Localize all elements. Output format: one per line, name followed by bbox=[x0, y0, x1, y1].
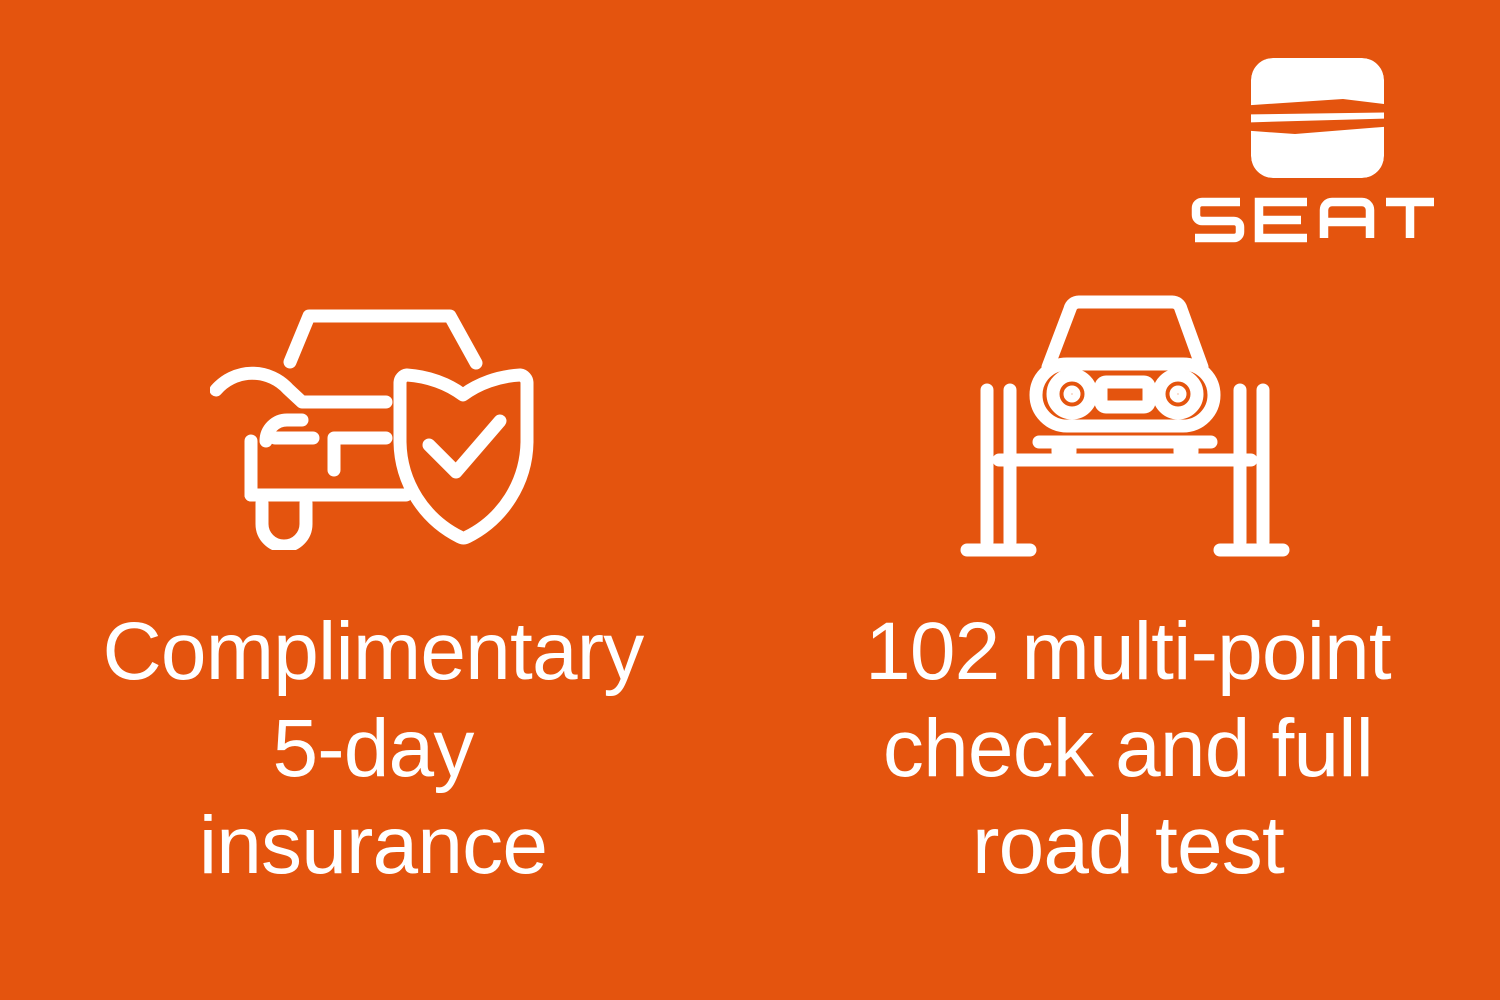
feature-caption-insurance: Complimentary 5-day insurance bbox=[0, 603, 748, 894]
car-with-shield-icon bbox=[210, 290, 540, 550]
promo-panel: Complimentary 5-day insurance bbox=[0, 0, 1500, 1000]
feature-card-insurance: Complimentary 5-day insurance bbox=[0, 0, 750, 1000]
features-row: Complimentary 5-day insurance bbox=[0, 0, 1500, 1000]
feature-caption-inspection: 102 multi-point check and full road test bbox=[753, 603, 1500, 894]
car-on-vehicle-lift-icon bbox=[957, 292, 1293, 570]
feature-card-inspection: 102 multi-point check and full road test bbox=[750, 0, 1500, 1000]
